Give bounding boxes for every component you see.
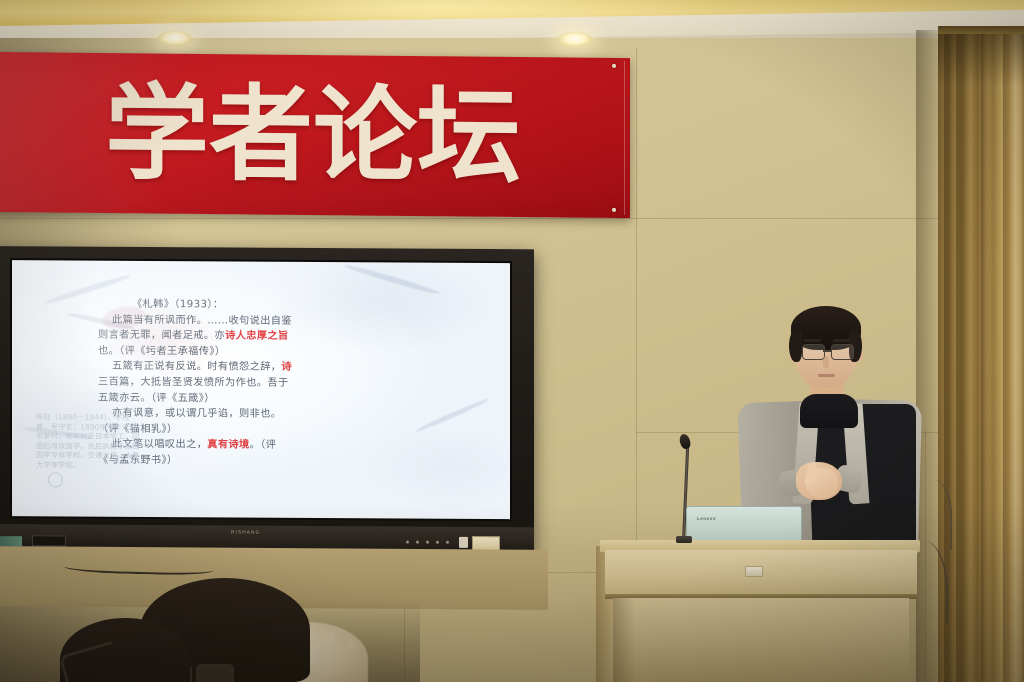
banner-title: 学者论坛 xyxy=(0,52,630,218)
wall-seam-horizontal-1 xyxy=(636,218,956,219)
speaker-turtleneck xyxy=(800,394,858,428)
slide-highlight-text: 诗人忠厚之旨 xyxy=(225,331,289,342)
slide-text: 五箴亦云。（评《五箴》） xyxy=(98,392,215,404)
slide-highlight-text: 真有诗境 xyxy=(207,440,249,451)
slide-biography-text: 陈柱（1890－1944），字柱尊，号守玄；1890年生于北流市萝村。青年时赴日… xyxy=(36,412,140,470)
lower-wall-shadow xyxy=(0,502,1024,682)
speaker-eyebrow-left xyxy=(803,339,821,342)
slide-text: 也。（评《圬者王承福传》） xyxy=(98,345,225,357)
downlight-icon-left xyxy=(158,31,192,46)
curtain-rail xyxy=(938,26,1024,34)
slide-text-block: 《札韩》（1933）： 此篇当有所讽而作。……收句说出自鉴则言者无罪，闻者足戒。… xyxy=(98,297,502,471)
presentation-screen[interactable]: 《札韩》（1933）： 此篇当有所讽而作。……收句说出自鉴则言者无罪，闻者足戒。… xyxy=(12,260,510,519)
slide-line: 《与孟东野书》） xyxy=(98,453,502,471)
glasses-icon-left-lens xyxy=(802,344,825,360)
glasses-icon-bridge xyxy=(823,350,831,352)
banner-screw-top-right xyxy=(612,64,616,68)
slide-seal-icon xyxy=(48,472,63,487)
slide-text: 。（评 xyxy=(250,440,277,451)
slide-text: 五箴有正说有反说。时有愤怨之辞， xyxy=(112,361,281,373)
slide-title: 《札韩》（1933）： xyxy=(98,297,502,315)
speaker-mouth xyxy=(818,374,835,377)
banner-screw-bottom-right xyxy=(612,208,616,212)
wall-seam-horizontal-2 xyxy=(0,218,636,219)
slide-line: 三百篇，大抵皆圣贤发愤所为作也。吾于 xyxy=(98,375,502,393)
slide-highlight-text: 诗 xyxy=(281,362,292,373)
lecture-hall-photo: 学者论坛 《札韩》（1933）： 此篇当有所讽而作。……收句说出自鉴则言者无罪，… xyxy=(0,0,1024,682)
event-banner: 学者论坛 xyxy=(0,52,630,218)
slide-text: 三百篇，大抵皆圣贤发愤所为作也。吾于 xyxy=(98,377,289,389)
slide-text: 则言者无罪，闻者足戒。亦 xyxy=(98,330,225,342)
slide-text: 此篇当有所讽而作。……收句说出自鉴 xyxy=(112,314,292,326)
speaker-nose xyxy=(823,356,829,368)
downlight-icon-right xyxy=(558,32,592,47)
speaker-eyebrow-right xyxy=(833,339,851,342)
slide-body-lines: 此篇当有所讽而作。……收句说出自鉴则言者无罪，闻者足戒。亦诗人忠厚之旨也。（评《… xyxy=(98,312,502,470)
speaker-hair-side-left xyxy=(789,330,802,362)
glasses-icon-right-lens xyxy=(831,344,854,360)
